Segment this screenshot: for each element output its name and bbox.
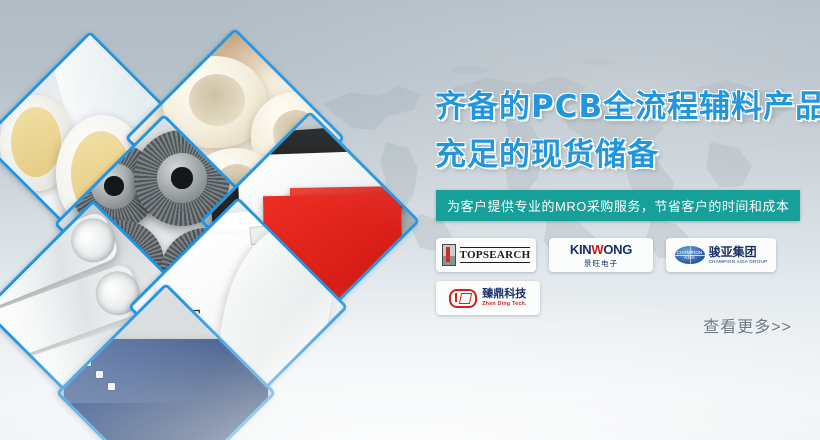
champion-asia-globe-text: CHAMPION ASIA	[675, 250, 705, 260]
client-logo-row-2: 臻鼎科技 Zhen Ding Tech.	[436, 281, 806, 315]
client-logo-list: TOPSEARCH KINWONG 景旺电子 CHAMPION ASIA	[436, 238, 806, 324]
promotional-banner: JIE 齐备的PCB全流程辅料产品、 充足的现货储备 为客户提供专业的MRO采购…	[0, 0, 820, 440]
headline-line-2: 充足的现货储备	[435, 140, 659, 171]
champion-asia-chinese: 骏亚集团	[709, 246, 768, 258]
kinwong-logo-text-part2: ONG	[603, 242, 632, 257]
subtitle-text: 为客户提供专业的MRO采购服务，节省客户的时间和成本	[447, 196, 789, 215]
client-logo-row-1: TOPSEARCH KINWONG 景旺电子 CHAMPION ASIA	[436, 238, 806, 272]
topsearch-mark-icon	[442, 244, 456, 266]
subtitle-bar: 为客户提供专业的MRO采购服务，节省客户的时间和成本	[436, 190, 800, 221]
view-more-link[interactable]: 查看更多>>	[703, 313, 792, 337]
headline-line-1: 齐备的PCB全流程辅料产品、	[435, 92, 820, 123]
kinwong-logo-text-part1: KIN	[570, 242, 592, 257]
zhending-english: Zhen Ding Tech.	[482, 302, 526, 307]
champion-asia-english: CHAMPION ASIA GROUP	[709, 260, 768, 265]
topsearch-logo-text: TOPSEARCH	[460, 247, 531, 263]
banner-copy-block: 齐备的PCB全流程辅料产品、 充足的现货储备 为客户提供专业的MRO采购服务，节…	[430, 0, 820, 440]
client-logo-zhending[interactable]: 臻鼎科技 Zhen Ding Tech.	[436, 281, 540, 315]
zhending-mark-icon	[449, 289, 477, 308]
kinwong-logo-chinese: 景旺电子	[570, 260, 632, 268]
client-logo-topsearch[interactable]: TOPSEARCH	[436, 238, 536, 272]
kinwong-logo-accent: W	[591, 242, 603, 257]
champion-asia-globe-icon: CHAMPION ASIA	[675, 246, 705, 264]
product-image-collage: JIE	[0, 0, 430, 440]
zhending-chinese: 臻鼎科技	[482, 289, 526, 300]
client-logo-champion-asia[interactable]: CHAMPION ASIA 骏亚集团 CHAMPION ASIA GROUP	[666, 238, 776, 272]
client-logo-kinwong[interactable]: KINWONG 景旺电子	[549, 238, 653, 272]
